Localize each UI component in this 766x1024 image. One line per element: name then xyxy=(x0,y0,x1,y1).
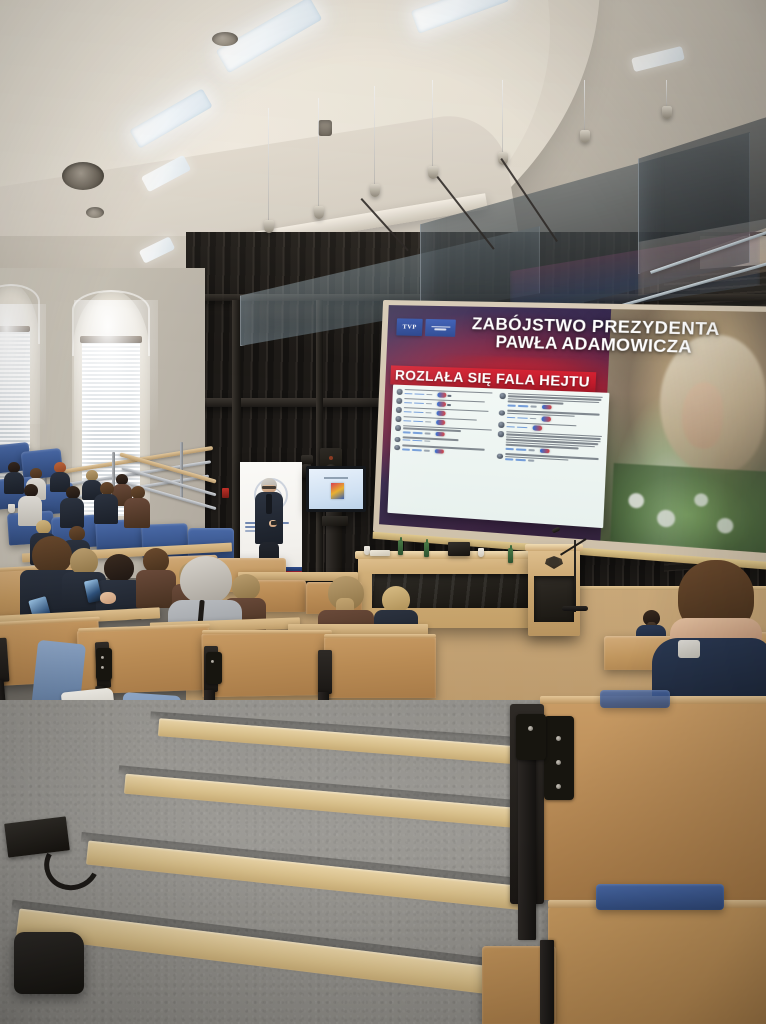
reply-label[interactable] xyxy=(413,402,423,404)
camera-mount xyxy=(301,455,313,464)
seat-bolt-2 xyxy=(101,666,104,669)
avatar xyxy=(397,389,403,395)
social-media-comments-screenshot xyxy=(387,384,609,528)
reaction-icons xyxy=(436,420,445,425)
glass-brace-3 xyxy=(361,198,409,251)
avatar xyxy=(394,445,400,451)
avatar xyxy=(500,393,506,399)
glass-hanger-cap-6 xyxy=(580,130,590,143)
timestamp-label xyxy=(530,418,536,420)
like-label[interactable] xyxy=(403,411,411,413)
like-label[interactable] xyxy=(507,405,515,407)
glass-hanger-cap-2 xyxy=(314,206,324,219)
microphone-stand xyxy=(574,540,576,612)
drink-cup-left-row xyxy=(8,504,15,513)
reply-label[interactable] xyxy=(412,432,422,434)
avatar xyxy=(396,407,402,413)
reaction-icons xyxy=(436,402,445,407)
reaction-count xyxy=(447,394,451,396)
monitor-screen xyxy=(309,469,363,509)
seat-leg-closest xyxy=(518,740,536,940)
audience-head xyxy=(382,586,410,613)
like-label[interactable] xyxy=(505,458,513,460)
tvp-logo: TVP xyxy=(396,318,422,336)
avatar xyxy=(396,398,402,404)
audience-hand-2 xyxy=(100,592,116,604)
reaction-group xyxy=(436,402,450,407)
confidence-monitor xyxy=(306,466,366,512)
reaction-icons xyxy=(434,449,443,454)
reply-label[interactable] xyxy=(515,459,526,461)
like-label[interactable] xyxy=(402,449,410,451)
like-label[interactable] xyxy=(403,420,411,422)
reaction-group xyxy=(542,405,552,410)
list-item xyxy=(94,482,118,522)
list-item xyxy=(124,486,150,526)
timestamp-label xyxy=(426,394,432,396)
avatar xyxy=(499,410,505,416)
water-bottle-2 xyxy=(424,542,429,557)
reply-label[interactable] xyxy=(517,405,528,407)
glass-hanger-rod-5 xyxy=(502,80,503,158)
ceiling-vent-1 xyxy=(212,32,238,46)
window-arch-trim-1 xyxy=(0,284,40,344)
seat-bolt-closest-2 xyxy=(556,760,561,765)
reaction-icons xyxy=(542,405,552,410)
avatar xyxy=(395,416,401,422)
reaction-group xyxy=(532,426,542,431)
seat-cushion-blue-2[interactable] xyxy=(600,690,670,708)
seat-arm-fore-4 xyxy=(318,650,332,694)
window-arch-trim-2 xyxy=(72,290,150,356)
timestamp-label xyxy=(425,403,431,405)
reaction-icons xyxy=(541,417,551,422)
projection-screen: TVP ZABÓJSTWO PREZYDENTA PAWŁA ADAMOWICZ… xyxy=(379,305,766,553)
comment-body xyxy=(505,431,603,456)
reaction-group xyxy=(436,420,445,425)
reaction-icons xyxy=(437,393,446,398)
like-label[interactable] xyxy=(505,448,513,450)
timestamp-label xyxy=(424,433,430,435)
seat-cushion-blue-1[interactable] xyxy=(596,884,724,910)
wooden-lectern xyxy=(528,548,580,636)
like-label[interactable] xyxy=(507,417,515,419)
glass-hanger-rod-4 xyxy=(432,80,433,172)
reply-label[interactable] xyxy=(515,449,526,451)
list-item xyxy=(60,486,84,526)
comments-column-right xyxy=(494,393,605,524)
reaction-group xyxy=(436,411,445,416)
ceiling-speaker-recessed xyxy=(62,162,104,190)
glass-hanger-rod-1 xyxy=(268,108,269,226)
reply-label[interactable] xyxy=(517,417,528,419)
lecture-hall-photo: TVP ZABÓJSTWO PREZYDENTA PAWŁA ADAMOWICZ… xyxy=(0,0,766,1024)
timestamp-label xyxy=(425,412,431,414)
seat-bolt-3 xyxy=(211,660,214,663)
emergency-call-point xyxy=(222,488,229,498)
reply-label[interactable] xyxy=(517,427,528,429)
water-bottle-1 xyxy=(398,540,403,555)
seat-bolt-closest-1 xyxy=(556,736,561,741)
timestamp-label xyxy=(530,406,536,408)
monitor-slide-thumbnail xyxy=(331,483,344,500)
seat-fore-4[interactable] xyxy=(324,636,436,698)
comments-column-left xyxy=(392,389,497,516)
cup-2 xyxy=(478,548,484,557)
presenter-shirt xyxy=(266,494,272,514)
like-label[interactable] xyxy=(402,439,410,441)
reply-label[interactable] xyxy=(413,411,423,413)
shirt-collar xyxy=(678,640,700,658)
reply-label[interactable] xyxy=(412,440,422,442)
reaction-group xyxy=(435,432,444,437)
list-item xyxy=(18,484,42,524)
list-item xyxy=(499,393,605,412)
like-label[interactable] xyxy=(404,402,412,404)
reaction-group xyxy=(434,449,443,454)
backpack xyxy=(14,932,84,994)
avatar xyxy=(498,431,504,437)
monitor-text-line xyxy=(324,477,348,479)
glass-hanger-cap-3 xyxy=(370,184,380,197)
reply-label[interactable] xyxy=(411,449,421,451)
reaction-group xyxy=(541,417,551,422)
reply-label[interactable] xyxy=(414,393,424,395)
seat-bolt-closest-4 xyxy=(528,726,533,731)
microphone-base xyxy=(562,606,588,611)
water-bottle-3 xyxy=(508,548,513,563)
glass-hanger-rod-3 xyxy=(374,86,375,190)
like-label[interactable] xyxy=(506,426,514,428)
seat-bracket-1 xyxy=(96,648,112,680)
seat-bracket-2 xyxy=(206,652,222,684)
desk-monitor[interactable] xyxy=(448,542,470,556)
audience-torso xyxy=(60,498,84,528)
reaction-group xyxy=(437,393,451,398)
glass-hanger-cap-1 xyxy=(264,220,274,233)
audience-head xyxy=(70,548,98,575)
reply-label[interactable] xyxy=(413,421,423,423)
avatar xyxy=(395,425,401,431)
reaction-icons xyxy=(435,432,444,437)
seat-leg-closest-lower xyxy=(540,940,554,1024)
seat-closest-right-lower[interactable] xyxy=(548,904,766,1024)
speaker-led-icon xyxy=(329,456,333,460)
timestamp-label xyxy=(425,421,431,423)
eagle-crest-icon xyxy=(545,556,563,569)
like-label[interactable] xyxy=(404,393,412,395)
reaction-icons xyxy=(436,411,445,416)
avatar xyxy=(498,422,504,428)
seat-bolt-closest-3 xyxy=(556,784,561,789)
glass-hanger-rod-6 xyxy=(584,80,585,136)
timestamp-label xyxy=(528,460,534,462)
timestamp-label xyxy=(424,440,430,442)
reaction-group xyxy=(540,448,550,453)
like-label[interactable] xyxy=(402,432,410,434)
audience-torso xyxy=(94,494,118,524)
lectern-glass-insert xyxy=(534,576,574,622)
reaction-icons xyxy=(532,426,542,431)
timestamp-label xyxy=(423,450,429,452)
seat-bracket-closest-top xyxy=(516,714,546,760)
timestamp-label xyxy=(528,449,534,451)
comment-body xyxy=(507,393,605,412)
reaction-count xyxy=(446,403,450,405)
glasses-icon xyxy=(262,486,276,489)
desk-papers xyxy=(370,550,390,556)
glass-hanger-rod-2 xyxy=(318,98,319,212)
tvp-logo-text: TVP xyxy=(402,324,416,331)
audience-head xyxy=(104,554,134,582)
audience-head xyxy=(36,520,51,534)
presenter-laptop[interactable] xyxy=(322,516,348,526)
list-item xyxy=(497,431,603,457)
ceiling-vent-2 xyxy=(86,207,104,218)
glass-hanger-cap-7 xyxy=(662,106,672,119)
avatar xyxy=(394,437,400,443)
seat-top-fore-4 xyxy=(324,634,436,638)
reaction-icons xyxy=(540,448,550,453)
audience-torso xyxy=(124,498,150,528)
seat-bolt-1 xyxy=(101,656,104,659)
presenter-remote xyxy=(271,521,277,525)
audience-head xyxy=(180,556,232,604)
avatar xyxy=(497,453,503,459)
seat-top-fore-3 xyxy=(202,630,332,634)
student-blazer-right-foreground xyxy=(660,560,766,700)
projection-screen-frame: TVP ZABÓJSTWO PREZYDENTA PAWŁA ADAMOWICZ… xyxy=(373,300,766,563)
